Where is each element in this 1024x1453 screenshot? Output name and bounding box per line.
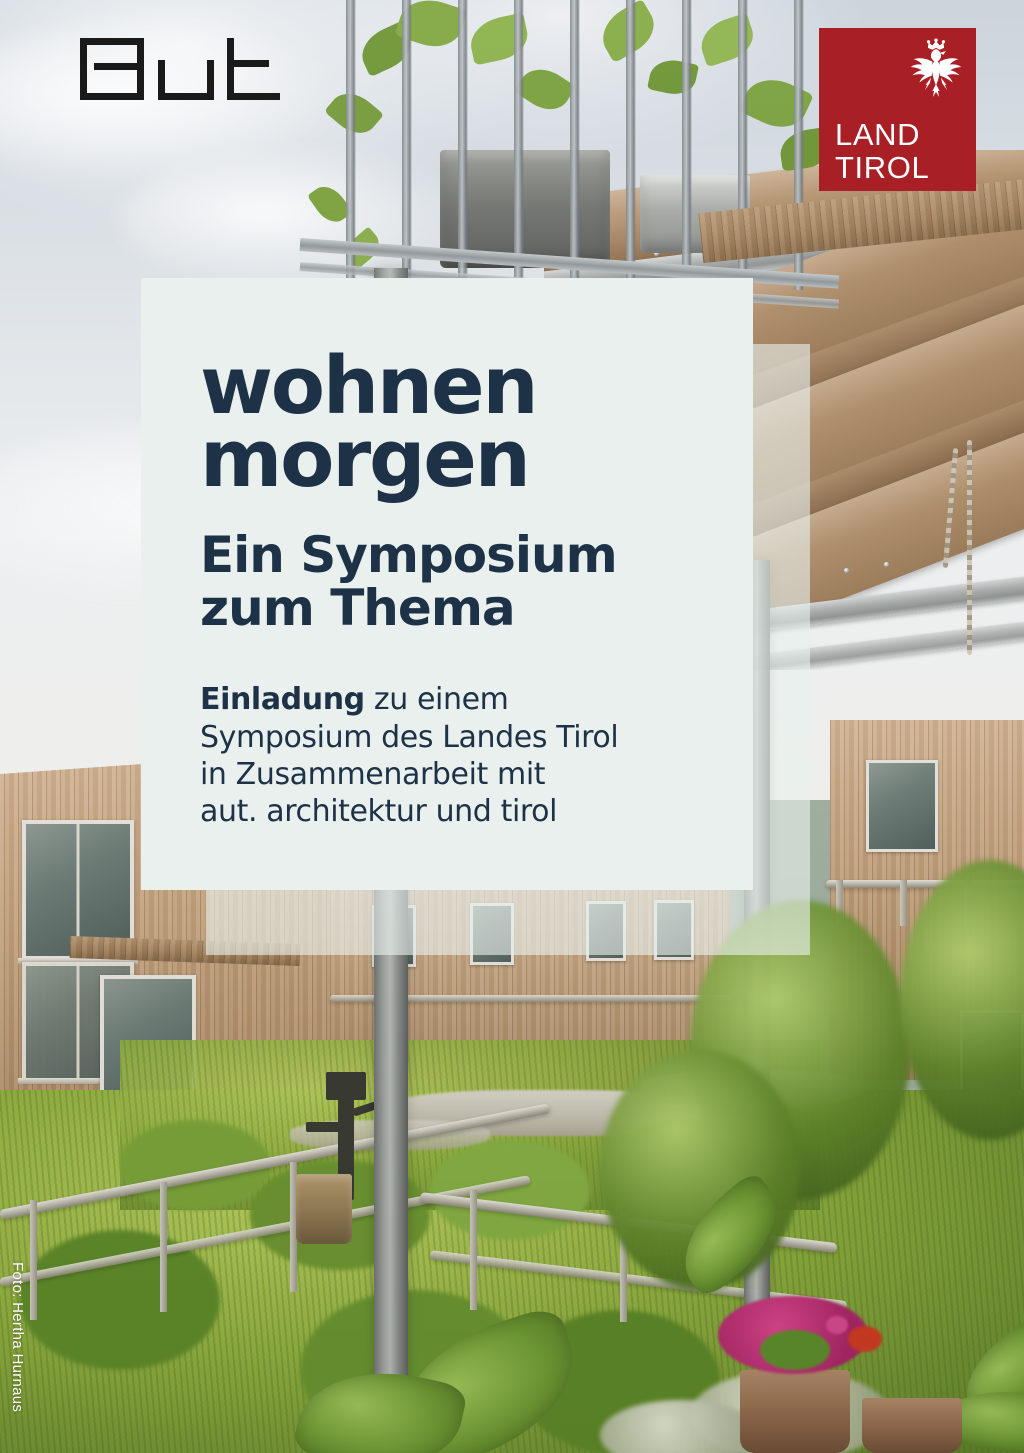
body-line-4: aut. architektur und tirol [200,793,720,830]
poster: wohnen morgen Ein Symposium zum Thema Ei… [0,0,1024,1453]
body-line-1: Einladung zu einem [200,681,720,718]
photo-credit: Foto: Hertha Hurnaus [9,1262,26,1412]
land-tirol-line-2: TIROL [835,151,929,184]
body-text: Einladung zu einem Symposium des Landes … [200,681,720,830]
water-pump-head [326,1072,366,1100]
bolt [844,568,849,573]
subtitle: Ein Symposium zum Thema [200,529,720,635]
water-pump-spout [306,1122,342,1132]
hanging-rope [967,440,972,655]
aut-logo[interactable] [80,38,280,100]
page-title: wohnen morgen [200,350,720,495]
window [866,760,938,852]
flower-pot [862,1398,962,1453]
rail-post [900,880,907,926]
shrub [20,1230,220,1370]
body-line-3: in Zusammenarbeit mit [200,756,720,793]
flower [826,1316,848,1334]
land-tirol-line-1: LAND [835,118,929,151]
land-tirol-logo[interactable]: LAND TIROL [819,28,976,191]
body-lead: Einladung [200,682,365,717]
wooden-bucket [296,1174,352,1244]
flower-pot [740,1370,850,1453]
flower [848,1326,882,1352]
flower-cluster [760,1330,830,1370]
headline-line-1: wohnen [200,350,720,423]
poster-copy: wohnen morgen Ein Symposium zum Thema Ei… [200,278,720,830]
rail-post [30,1200,37,1320]
headline-line-2: morgen [200,423,720,496]
body-line-2: Symposium des Landes Tirol [200,719,720,756]
body-line-1-rest: zu einem [365,682,509,717]
rail-post [470,1190,477,1310]
rail-post [160,1182,167,1312]
bolt [884,562,889,567]
land-tirol-wordmark: LAND TIROL [835,118,929,184]
subheadline-line-2: zum Thema [200,582,720,635]
tyrolean-eagle-icon [905,38,967,100]
subheadline-line-1: Ein Symposium [200,529,720,582]
